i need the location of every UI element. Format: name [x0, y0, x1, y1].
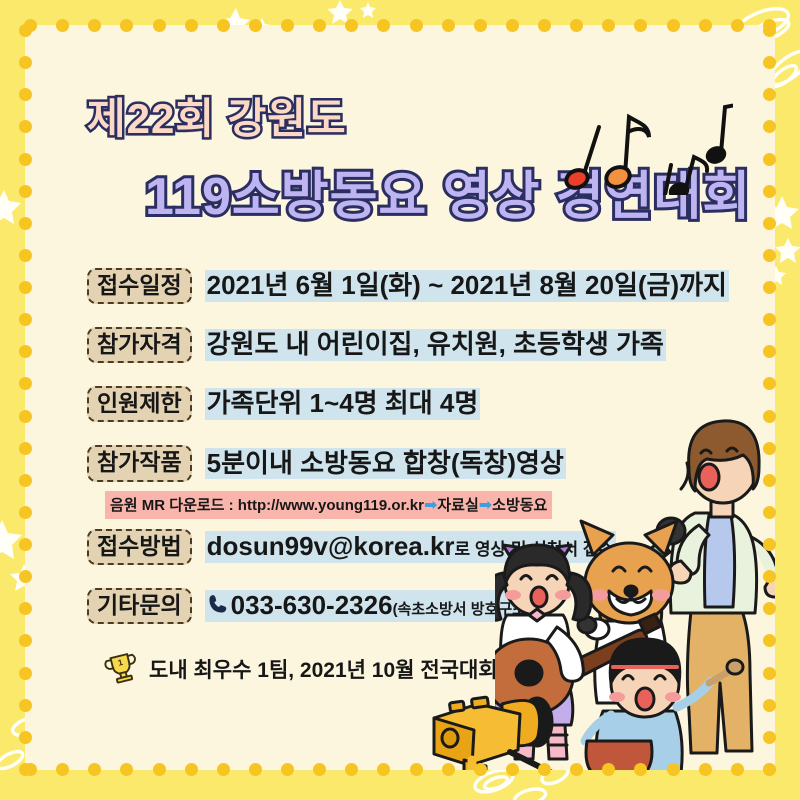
- row-value: 2021년 6월 1일(화) ~ 2021년 8월 20일(금)까지: [205, 270, 729, 302]
- row-value: 가족단위 1~4명 최대 4명: [205, 388, 481, 420]
- email-suffix: 로 영상 및 신청서 접수: [455, 540, 615, 559]
- email-address[interactable]: dosun99v@korea.kr: [207, 531, 455, 561]
- row-label-badge: 인원제한: [87, 386, 192, 422]
- row-value: 033-630-2326(속초소방서 방호구조과): [205, 590, 547, 622]
- mr-download-note[interactable]: 음원 MR 다운로드 : http://www.young119.or.kr➡자…: [105, 491, 552, 519]
- poster-inner-panel: 제22회 강원도 119소방동요 영상 경연대회 접수일정 2021년 6: [25, 25, 775, 770]
- phone-icon: [207, 592, 229, 616]
- mr-suffix: 소방동요: [492, 497, 547, 514]
- footnote: 1 도내 최우수 1팀, 2021년 10월 전국대회 참가: [103, 652, 542, 686]
- row-label-badge: 접수방법: [87, 529, 192, 565]
- phone-number[interactable]: 033-630-2326: [231, 590, 393, 620]
- row-label-badge: 참가작품: [87, 445, 192, 481]
- row-label-badge: 참가자격: [87, 327, 192, 363]
- footnote-text: 도내 최우수 1팀, 2021년 10월 전국대회 참가: [149, 654, 542, 684]
- mr-download-note-wrap: 음원 MR 다운로드 : http://www.young119.or.kr➡자…: [87, 482, 775, 519]
- mr-prefix: 음원 MR 다운로드 : http://www.young119.or.kr: [110, 497, 424, 514]
- arrow-right-icon: ➡: [479, 497, 492, 514]
- arrow-right-icon: ➡: [424, 497, 437, 514]
- table-row: 기타문의 033-630-2326(속초소방서 방호구조과): [87, 588, 775, 624]
- row-value: dosun99v@korea.kr로 영상 및 신청서 접수: [205, 531, 617, 563]
- table-row: 인원제한 가족단위 1~4명 최대 4명: [87, 386, 775, 422]
- phone-department: (속초소방서 방호구조과): [393, 601, 545, 618]
- music-notes-icon: [553, 85, 733, 195]
- table-row: 접수일정 2021년 6월 1일(화) ~ 2021년 8월 20일(금)까지: [87, 268, 775, 304]
- camera-tripod-icon: [410, 690, 590, 770]
- info-rows: 접수일정 2021년 6월 1일(화) ~ 2021년 8월 20일(금)까지 …: [87, 268, 775, 624]
- row-label-badge: 접수일정: [87, 268, 192, 304]
- mr-mid: 자료실: [437, 497, 478, 514]
- row-value: 강원도 내 어린이집, 유치원, 초등학생 가족: [205, 329, 666, 361]
- row-label-badge: 기타문의: [87, 588, 192, 624]
- row-value: 5분이내 소방동요 합창(독창)영상: [205, 448, 566, 480]
- table-row: 접수방법 dosun99v@korea.kr로 영상 및 신청서 접수: [87, 529, 775, 565]
- table-row: 참가작품 5분이내 소방동요 합창(독창)영상: [87, 445, 775, 481]
- table-row: 참가자격 강원도 내 어린이집, 유치원, 초등학생 가족: [87, 327, 775, 363]
- trophy-icon: 1: [103, 652, 141, 686]
- poster-canvas: 제22회 강원도 119소방동요 영상 경연대회 접수일정 2021년 6: [0, 0, 800, 800]
